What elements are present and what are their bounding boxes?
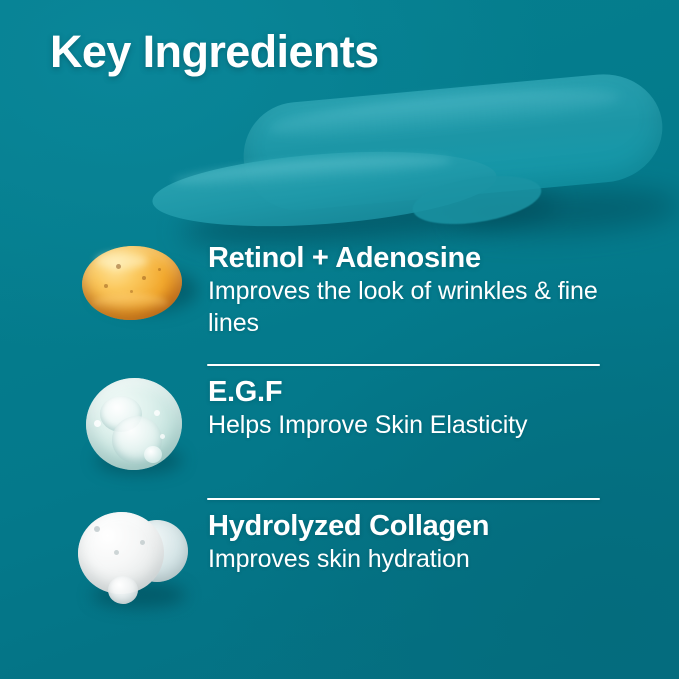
clear-gel-droplet-icon — [70, 506, 194, 626]
ingredient-name: Hydrolyzed Collagen — [208, 510, 489, 542]
honey-droplet-icon — [70, 238, 194, 358]
ingredient-description: Helps Improve Skin Elasticity — [208, 410, 527, 442]
decorative-blob-tail — [409, 168, 544, 232]
ingredient-description: Improves skin hydration — [208, 544, 489, 576]
clear-bubble-small — [140, 540, 145, 545]
mint-bubble — [144, 446, 162, 463]
ingredient-description: Improves the look of wrinkles & fine lin… — [208, 276, 608, 339]
honey-bubble — [104, 284, 108, 288]
clear-bubble-small — [94, 526, 100, 532]
row-divider — [207, 364, 600, 366]
mint-bubble-small — [154, 410, 160, 416]
row-divider — [207, 498, 600, 500]
page-title: Key Ingredients — [50, 28, 379, 75]
clear-bubble-small — [114, 550, 119, 555]
blob-shadow-upper — [451, 184, 679, 238]
ingredient-text-block: Hydrolyzed Collagen Improves skin hydrat… — [194, 506, 489, 576]
list-item: Retinol + Adenosine Improves the look of… — [0, 238, 679, 358]
decorative-blob-lower — [150, 141, 499, 236]
decorative-blob-upper-gloss — [267, 80, 621, 146]
honey-droplet-highlight — [96, 253, 148, 269]
honey-bubble — [142, 276, 146, 280]
mint-gel-droplet-icon — [70, 372, 194, 492]
list-item: E.G.F Helps Improve Skin Elasticity — [0, 372, 679, 492]
decorative-blob-upper — [239, 69, 667, 215]
honey-bubble — [116, 264, 121, 269]
ingredient-name: Retinol + Adenosine — [208, 242, 608, 274]
list-item: Hydrolyzed Collagen Improves skin hydrat… — [0, 506, 679, 626]
honey-bubble — [158, 268, 161, 271]
ingredient-text-block: Retinol + Adenosine Improves the look of… — [194, 238, 608, 339]
honey-bubble — [130, 290, 133, 293]
ingredient-text-block: E.G.F Helps Improve Skin Elasticity — [194, 372, 527, 442]
mint-bubble-small — [160, 434, 165, 439]
decorative-blob-lower-gloss — [172, 150, 453, 192]
ingredient-list: Retinol + Adenosine Improves the look of… — [0, 238, 679, 626]
honey-droplet-rim — [92, 294, 168, 312]
ingredient-name: E.G.F — [208, 376, 527, 408]
mint-bubble-small — [94, 420, 101, 427]
key-ingredients-infographic: Key Ingredients Retinol + Adenosine Impr… — [0, 0, 679, 679]
clear-droplet-drip — [108, 576, 138, 604]
